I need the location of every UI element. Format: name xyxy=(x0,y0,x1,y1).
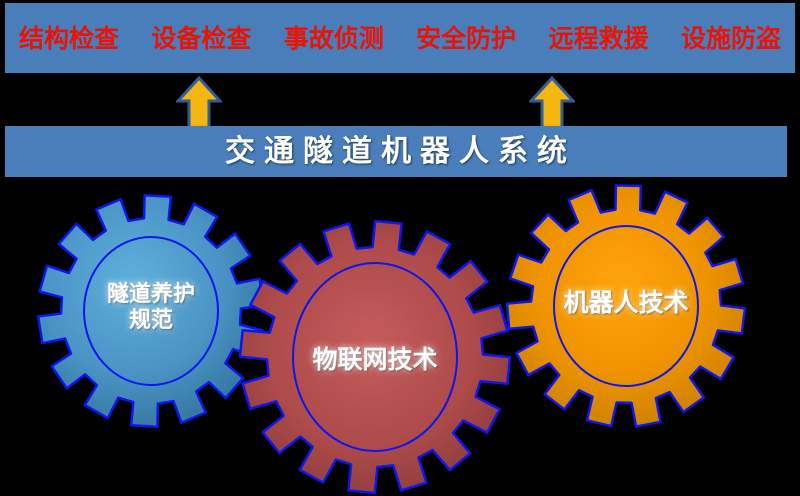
capability-item-facility-antitheft[interactable]: 设施防盗 xyxy=(681,26,781,51)
gear-robotics-technology[interactable]: 机器人技术 xyxy=(505,184,747,429)
capability-item-accident-detection[interactable]: 事故侦测 xyxy=(284,26,384,51)
capability-bar: 结构检查 设备检查 事故侦测 安全防护 远程救援 设施防盗 xyxy=(5,3,795,73)
system-title-bar: 交通隧道机器人系统 xyxy=(5,126,787,177)
system-title: 交通隧道机器人系统 xyxy=(216,137,576,167)
gear-tunnel-maintenance-standard[interactable]: 隧道养护 规范 xyxy=(36,194,266,429)
capability-item-structural-inspection[interactable]: 结构检查 xyxy=(19,26,119,51)
diagram-canvas: 结构检查 设备检查 事故侦测 安全防护 远程救援 设施防盗 交通隧道机器人系统 xyxy=(0,0,800,496)
capability-item-safety-protection[interactable]: 安全防护 xyxy=(416,26,516,51)
capability-item-equipment-inspection[interactable]: 设备检查 xyxy=(151,26,251,51)
gear-iot-technology[interactable]: 物联网技术 xyxy=(238,220,512,495)
gear-group: 隧道养护 规范 物联网技术 xyxy=(0,182,800,482)
capability-item-remote-rescue[interactable]: 远程救援 xyxy=(549,26,649,51)
